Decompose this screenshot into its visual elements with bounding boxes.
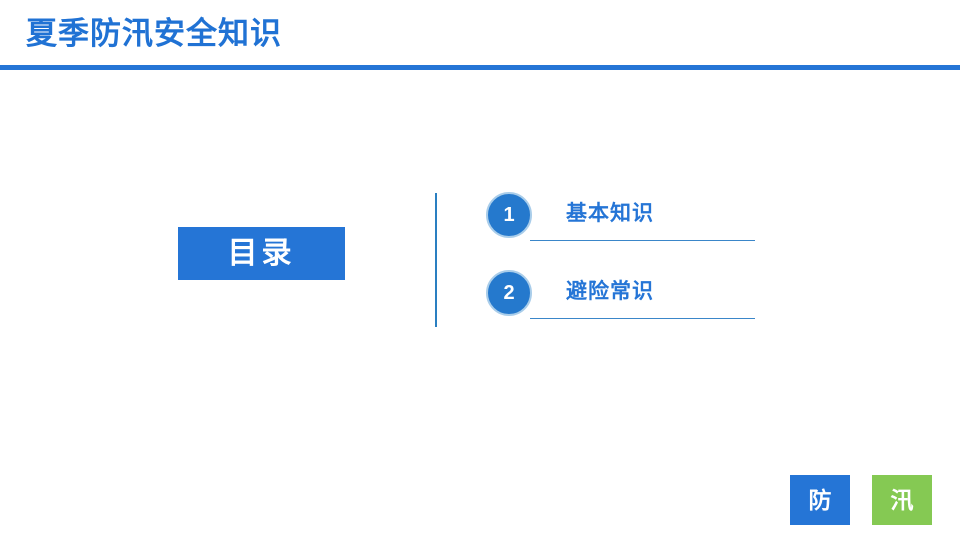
toc-item-1-label: 基本知识 [566,200,654,228]
toc-item-2[interactable]: 2 避险常识 [486,270,761,320]
page-title: 夏季防汛安全知识 [26,14,282,54]
header-divider [0,65,960,70]
toc-item-2-label: 避险常识 [566,278,654,306]
toc-heading-label: 目录 [228,239,296,269]
footer-logo: 防 汛 [790,475,932,525]
toc-item-2-number: 2 [503,283,514,303]
toc-vertical-divider [435,193,437,327]
footer-badge-fang-text: 防 [809,489,832,512]
toc-item-1[interactable]: 1 基本知识 [486,192,761,242]
toc-item-1-number-badge: 1 [486,192,532,238]
toc-heading-box: 目录 [178,227,345,280]
toc-item-2-underline [530,318,755,319]
footer-badge-xun-text: 汛 [891,489,914,512]
toc-item-1-underline [530,240,755,241]
footer-badge-xun: 汛 [872,475,932,525]
slide-canvas: 夏季防汛安全知识 目录 1 基本知识 2 避险常识 防 汛 [0,0,960,540]
footer-badge-fang: 防 [790,475,850,525]
toc-item-1-number: 1 [503,205,514,225]
toc-item-2-number-badge: 2 [486,270,532,316]
